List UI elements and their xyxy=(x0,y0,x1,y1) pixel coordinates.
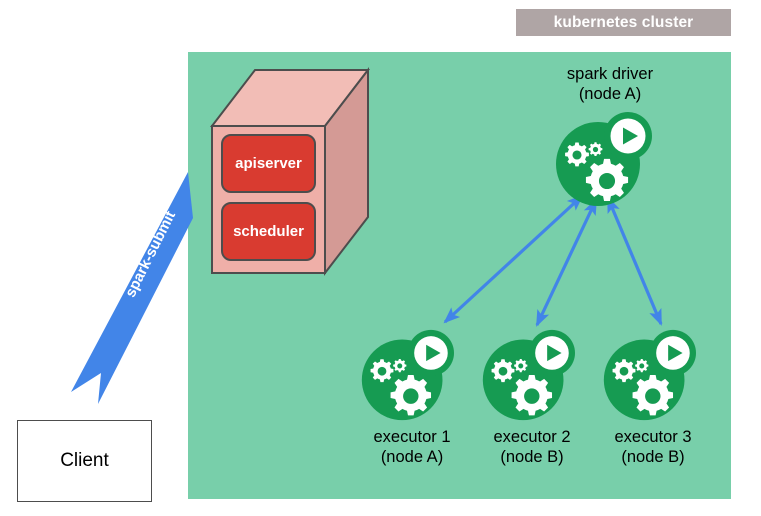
spark-driver-caption: spark driver (node A) xyxy=(525,64,695,104)
connection-driver-executor-1 xyxy=(445,196,582,322)
executor-1-node-icon xyxy=(362,330,454,420)
spark-driver-caption-line1: spark driver xyxy=(525,64,695,84)
executor-2-node-icon xyxy=(483,330,575,420)
apiserver-label-text: apiserver xyxy=(235,155,302,172)
spark-driver-caption-line2: (node A) xyxy=(525,84,695,104)
connection-driver-executor-2 xyxy=(537,200,596,325)
diagram-canvas: kubernetes cluster Client xyxy=(0,0,761,516)
scheduler-label-text: scheduler xyxy=(233,223,304,240)
driver-executor-connections xyxy=(445,196,661,325)
apiserver-label: apiserver xyxy=(222,135,315,192)
executor-3-node-icon xyxy=(604,330,696,420)
scheduler-label: scheduler xyxy=(222,203,315,260)
executor-3-caption-line1: executor 3 xyxy=(573,427,733,447)
executor-3-caption: executor 3 (node B) xyxy=(573,427,733,467)
spark-driver-node-icon xyxy=(556,112,652,206)
connection-driver-executor-3 xyxy=(608,198,661,324)
executor-3-caption-line2: (node B) xyxy=(573,447,733,467)
